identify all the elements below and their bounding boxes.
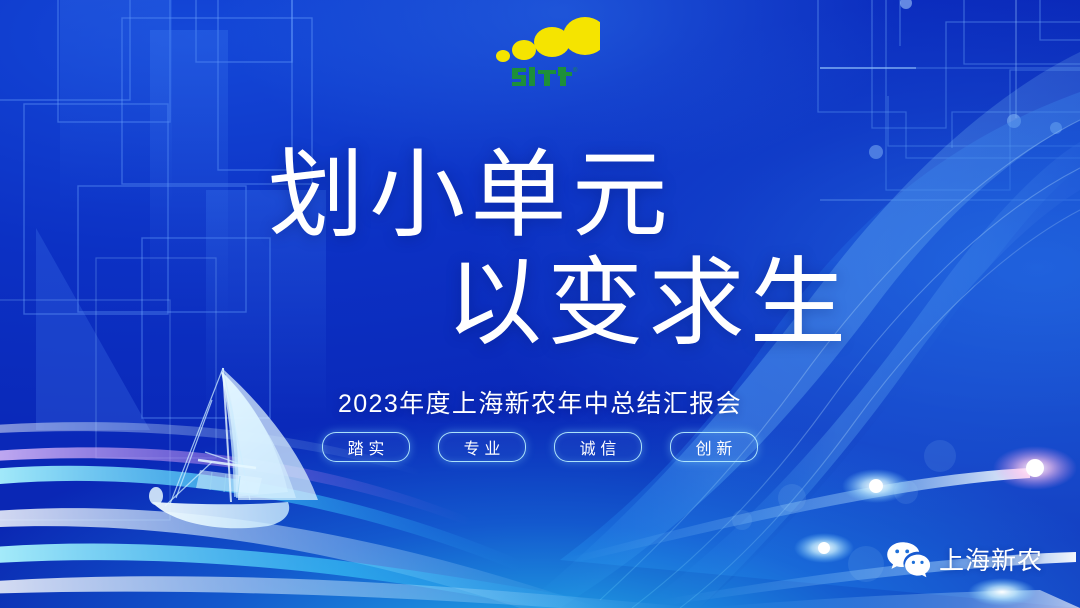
poster-canvas: ® 划小单元 以变求生 2023年度上海新农年中总结汇报会 踏实 专业 诚信 创… <box>0 0 1080 608</box>
tag-tashi: 踏实 <box>322 432 410 462</box>
svg-text:®: ® <box>573 67 578 74</box>
tag-zhuanye: 专业 <box>438 432 526 462</box>
wechat-account-name: 上海新农 <box>939 541 1043 577</box>
wechat-account-badge: 上海新农 <box>886 540 1043 578</box>
event-subtitle: 2023年度上海新农年中总结汇报会 <box>0 384 1080 420</box>
wechat-icon <box>886 540 930 578</box>
logo-wordmark: ® <box>510 64 578 90</box>
company-logo: ® <box>492 14 600 96</box>
tag-chengxin: 诚信 <box>554 432 642 462</box>
tag-chuangxin: 创新 <box>670 432 758 462</box>
value-tags-row: 踏实 专业 诚信 创新 <box>0 432 1080 462</box>
